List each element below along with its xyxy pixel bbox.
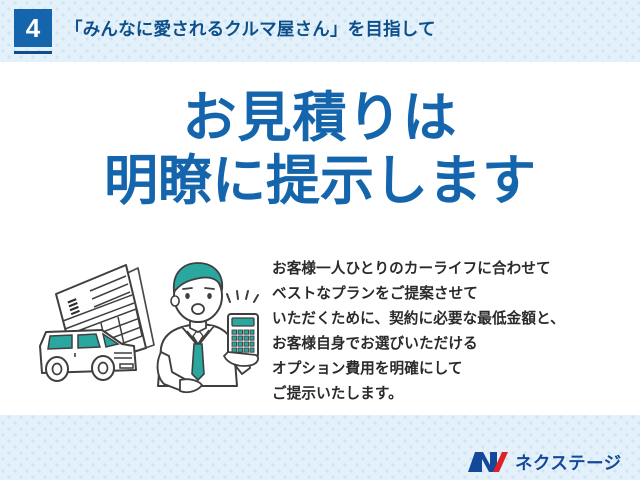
sparkle-icon — [227, 291, 258, 302]
body-line: オプション費用を明確にして — [272, 356, 632, 381]
body-paragraph: お客様一人ひとりのカーライフに合わせて ベストなプランをご提案させて いただくた… — [272, 256, 632, 407]
body-line: お客様一人ひとりのカーライフに合わせて — [272, 256, 632, 281]
van-bumper — [120, 364, 133, 368]
salesman-mouth — [192, 304, 204, 314]
calculator-display — [232, 318, 254, 326]
calculator — [224, 314, 258, 366]
van-windows — [48, 334, 118, 349]
promo-banner: 4 「みんなに愛されるクルマ屋さん」を目指して お見積りは 明瞭に提示します お… — [0, 0, 640, 480]
headline-line-2: 明瞭に提示します — [0, 149, 640, 212]
body-line: ご提示いたします。 — [272, 381, 632, 406]
body-line: いただくために、契約に必要な最低金額と、 — [272, 306, 632, 331]
salesman-pointing-hand — [180, 379, 202, 392]
header: 4 「みんなに愛されるクルマ屋さん」を目指して — [0, 0, 640, 56]
illustration-salesman-quotation — [30, 252, 270, 412]
headline: お見積りは 明瞭に提示します — [0, 86, 640, 212]
nextage-n-mark — [466, 450, 508, 474]
content-card: お見積りは 明瞭に提示します お客様一人ひとりのカーライフに合わせて ベストなプ… — [0, 62, 640, 415]
headline-line-1: お見積りは — [0, 86, 640, 149]
header-underline — [14, 51, 52, 54]
body-line: お客様自身でお選びいただける — [272, 331, 632, 356]
section-number-badge: 4 — [14, 9, 52, 47]
salesman-necktie — [192, 344, 204, 380]
page-title: 「みんなに愛されるクルマ屋さん」を目指して — [65, 16, 436, 41]
brand-name: ネクステージ — [515, 450, 622, 475]
brand-logo: ネクステージ — [466, 449, 622, 475]
body-line: ベストなプランをご提案させて — [272, 281, 632, 306]
